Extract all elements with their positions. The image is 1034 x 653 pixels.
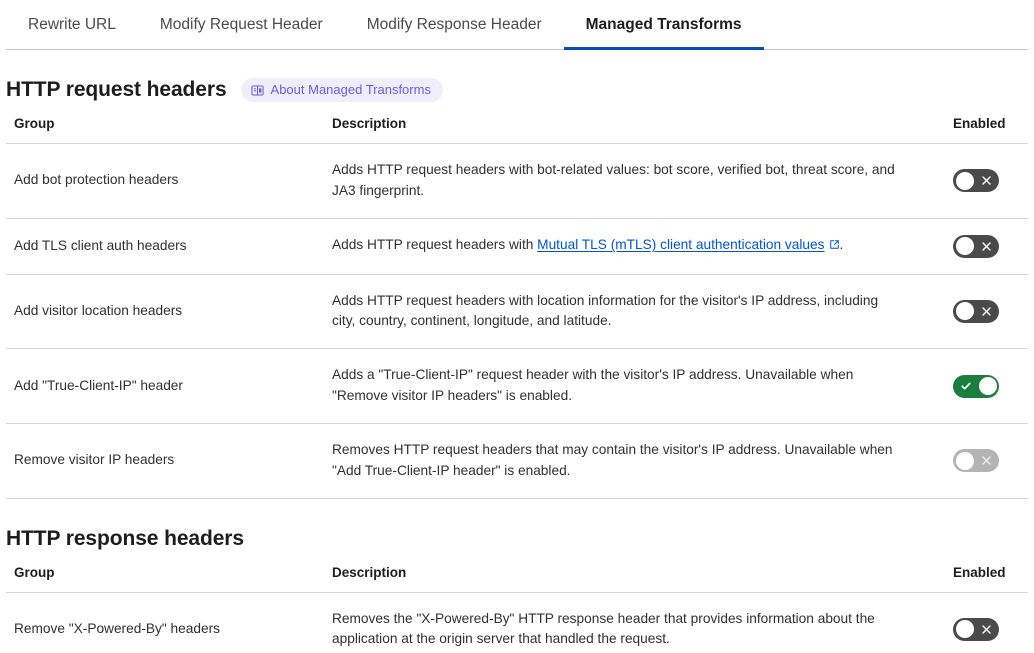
- tab-rewrite-url[interactable]: Rewrite URL: [6, 0, 138, 50]
- check-icon: [960, 375, 972, 398]
- toggle-knob: [979, 377, 997, 395]
- http-request-headers-section: HTTP request headers About Managed Trans…: [0, 50, 1034, 499]
- row-description: Removes the "X-Powered-By" HTTP response…: [324, 592, 930, 653]
- row-description: Removes HTTP request headers that may co…: [324, 423, 930, 498]
- about-managed-transforms-link[interactable]: About Managed Transforms: [241, 78, 443, 102]
- close-icon: [980, 235, 992, 258]
- row-description: Adds a "True-Client-IP" request header w…: [324, 349, 930, 424]
- row-group-label: Add "True-Client-IP" header: [6, 349, 324, 424]
- row-enabled-cell: [930, 218, 1028, 274]
- toggle-add-bot-protection-headers[interactable]: [953, 169, 999, 192]
- toggle-remove-x-powered-by-headers[interactable]: [953, 618, 999, 641]
- table-row: Remove "X-Powered-By" headers Removes th…: [6, 592, 1028, 653]
- row-enabled-cell: [930, 423, 1028, 498]
- close-icon: [980, 169, 992, 192]
- toggle-add-true-client-ip-header[interactable]: [953, 375, 999, 398]
- column-header-description: Description: [324, 565, 930, 593]
- book-icon: [251, 84, 264, 97]
- toggle-add-visitor-location-headers[interactable]: [953, 300, 999, 323]
- close-icon: [980, 449, 992, 472]
- column-header-enabled: Enabled: [930, 116, 1028, 144]
- tab-bar: Rewrite URL Modify Request Header Modify…: [0, 0, 1034, 50]
- page-title-response: HTTP response headers: [6, 527, 244, 551]
- page-title-request: HTTP request headers: [6, 78, 227, 102]
- toggle-remove-visitor-ip-headers: [953, 449, 999, 472]
- row-enabled-cell: [930, 592, 1028, 653]
- response-section-header: HTTP response headers: [6, 499, 1028, 565]
- request-section-header: HTTP request headers About Managed Trans…: [6, 50, 1028, 116]
- toggle-add-tls-client-auth-headers[interactable]: [953, 235, 999, 258]
- row-description-prefix: Adds HTTP request headers with: [332, 237, 537, 252]
- table-row: Add visitor location headers Adds HTTP r…: [6, 274, 1028, 349]
- request-headers-table: Group Description Enabled Add bot protec…: [6, 116, 1028, 499]
- table-header-row: Group Description Enabled: [6, 565, 1028, 593]
- response-headers-table: Group Description Enabled Remove "X-Powe…: [6, 565, 1028, 653]
- toggle-knob: [956, 172, 974, 190]
- row-group-label: Add TLS client auth headers: [6, 218, 324, 274]
- http-response-headers-section: HTTP response headers Group Description …: [0, 499, 1034, 653]
- row-enabled-cell: [930, 144, 1028, 219]
- row-description-suffix: .: [840, 237, 844, 252]
- column-header-enabled: Enabled: [930, 565, 1028, 593]
- toggle-knob: [956, 620, 974, 638]
- column-header-group: Group: [6, 565, 324, 593]
- table-row: Add "True-Client-IP" header Adds a "True…: [6, 349, 1028, 424]
- row-group-label: Remove "X-Powered-By" headers: [6, 592, 324, 653]
- row-group-label: Remove visitor IP headers: [6, 423, 324, 498]
- table-row: Add TLS client auth headers Adds HTTP re…: [6, 218, 1028, 274]
- close-icon: [980, 618, 992, 641]
- tab-managed-transforms[interactable]: Managed Transforms: [564, 0, 764, 50]
- column-header-description: Description: [324, 116, 930, 144]
- table-header-row: Group Description Enabled: [6, 116, 1028, 144]
- row-group-label: Add bot protection headers: [6, 144, 324, 219]
- toggle-knob: [956, 452, 974, 470]
- row-enabled-cell: [930, 349, 1028, 424]
- tab-modify-response-header[interactable]: Modify Response Header: [345, 0, 564, 50]
- tab-modify-request-header[interactable]: Modify Request Header: [138, 0, 345, 50]
- row-group-label: Add visitor location headers: [6, 274, 324, 349]
- table-row: Remove visitor IP headers Removes HTTP r…: [6, 423, 1028, 498]
- about-pill-label: About Managed Transforms: [271, 82, 431, 98]
- toggle-knob: [956, 302, 974, 320]
- close-icon: [980, 300, 992, 323]
- table-row: Add bot protection headers Adds HTTP req…: [6, 144, 1028, 219]
- mtls-docs-link[interactable]: Mutual TLS (mTLS) client authentication …: [537, 237, 824, 252]
- row-enabled-cell: [930, 274, 1028, 349]
- toggle-knob: [956, 237, 974, 255]
- row-description: Adds HTTP request headers with bot-relat…: [324, 144, 930, 219]
- external-link-icon: [829, 236, 840, 257]
- row-description: Adds HTTP request headers with Mutual TL…: [324, 218, 930, 274]
- column-header-group: Group: [6, 116, 324, 144]
- row-description: Adds HTTP request headers with location …: [324, 274, 930, 349]
